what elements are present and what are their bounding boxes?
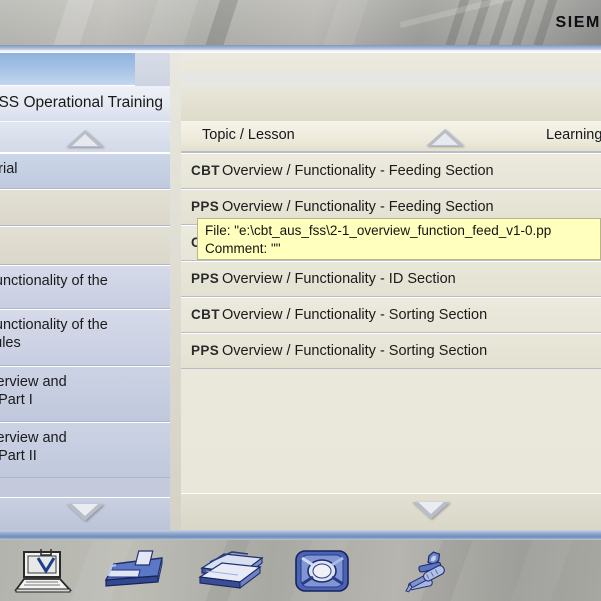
- sidebar-item-course-material[interactable]: aterial: [0, 153, 170, 189]
- toolbar-divider: [0, 530, 601, 540]
- tooltip-file-line: File: "e:\cbt_aus_fss\2-1_overview_funct…: [205, 222, 595, 240]
- toolbar-texture: [504, 540, 577, 601]
- lesson-rows: CBT Overview / Functionality - Feeding S…: [181, 153, 601, 493]
- bottom-toolbar: [0, 540, 601, 601]
- table-row[interactable]: CBT Overview / Functionality - Sorting S…: [181, 297, 601, 333]
- triangle-up-icon-highlight: [72, 134, 98, 146]
- sidebar-item-label: / Functionality of the: [0, 272, 170, 290]
- siemens-logo: SIEM: [555, 14, 601, 32]
- sidebar-item-label: Overview and s - Part II: [0, 429, 170, 465]
- column-header-topic-lesson[interactable]: Topic / Lesson: [202, 127, 295, 143]
- left-panel-tab-filler: [135, 53, 170, 86]
- column-header-learning[interactable]: Learning: [546, 127, 601, 143]
- top-photo-banner: SIEM: [0, 0, 601, 45]
- left-panel-item-list: aterial n / Functionality of the / Funct…: [0, 153, 170, 497]
- left-panel-tab[interactable]: [0, 53, 135, 86]
- sidebar-item-label: aterial: [0, 160, 170, 178]
- sidebar-item-label: n: [0, 196, 170, 214]
- books-stack-icon[interactable]: [192, 546, 278, 598]
- row-title: Overview / Functionality - Feeding Secti…: [222, 199, 494, 215]
- table-scroll-down-button[interactable]: [181, 493, 601, 530]
- sidebar-item-introduction[interactable]: n: [0, 189, 170, 226]
- floppy-disk-icon[interactable]: [100, 546, 186, 598]
- table-row[interactable]: PPS Overview / Functionality - Sorting S…: [181, 333, 601, 369]
- triangle-down-icon-highlight: [418, 502, 444, 514]
- file-tooltip: File: "e:\cbt_aus_fss\2-1_overview_funct…: [197, 218, 601, 260]
- triangle-up-icon-highlight: [432, 133, 458, 145]
- lifebuoy-icon[interactable]: [288, 546, 374, 598]
- sidebar-item-overview-functionality-system[interactable]: / Functionality of the: [0, 265, 170, 309]
- banner-texture: [139, 0, 202, 45]
- table-panel-top-spacer: [181, 53, 601, 121]
- left-panel-title: FSS Operational Training: [0, 94, 163, 112]
- table-row[interactable]: PPS Overview / Functionality - ID Sectio…: [181, 261, 601, 297]
- triangle-down-icon-highlight: [72, 504, 98, 516]
- tools-wrench-screwdriver-icon[interactable]: [392, 546, 478, 598]
- sidebar-item-blank[interactable]: [0, 226, 170, 265]
- lesson-table-panel: Topic / Lesson Learning CBT Overview / F…: [181, 53, 601, 530]
- panel-divider: [170, 53, 181, 530]
- left-scroll-up-button[interactable]: [0, 121, 170, 153]
- row-type-tag: CBT: [191, 307, 220, 322]
- banner-texture: [201, 0, 242, 45]
- row-type-tag: PPS: [191, 271, 219, 286]
- banner-texture: [485, 0, 517, 45]
- table-header-row: Topic / Lesson Learning: [181, 121, 601, 153]
- row-type-tag: CBT: [191, 163, 220, 178]
- table-panel-shade: [181, 73, 601, 87]
- row-type-tag: PPS: [191, 199, 219, 214]
- banner-texture: [319, 0, 372, 45]
- left-navigation-panel: FSS Operational Training aterial n / Fun…: [0, 53, 170, 530]
- sidebar-item-overview-functionality-modules[interactable]: / Functionality of the odules: [0, 309, 170, 366]
- row-type-tag: PPS: [191, 343, 219, 358]
- sort-indicator[interactable]: [426, 129, 464, 146]
- computer-download-icon[interactable]: [8, 546, 94, 598]
- sidebar-item-maintenance-part-2[interactable]: Overview and s - Part II: [0, 422, 170, 478]
- sidebar-item-label: Overview and s - Part I: [0, 373, 170, 409]
- banner-texture: [507, 0, 539, 45]
- row-title: Overview / Functionality - ID Section: [222, 271, 456, 287]
- left-scroll-down-button[interactable]: [0, 497, 170, 530]
- table-row[interactable]: CBT Overview / Functionality - Feeding S…: [181, 153, 601, 189]
- banner-texture: [49, 0, 98, 45]
- row-title: Overview / Functionality - Sorting Secti…: [222, 343, 487, 359]
- sidebar-item-label: / Functionality of the odules: [0, 316, 170, 352]
- tooltip-comment-line: Comment: "": [205, 240, 595, 258]
- sidebar-item-maintenance-part-1[interactable]: Overview and s - Part I: [0, 366, 170, 422]
- row-title: Overview / Functionality - Sorting Secti…: [222, 307, 487, 323]
- row-title: Overview / Functionality - Feeding Secti…: [222, 163, 494, 179]
